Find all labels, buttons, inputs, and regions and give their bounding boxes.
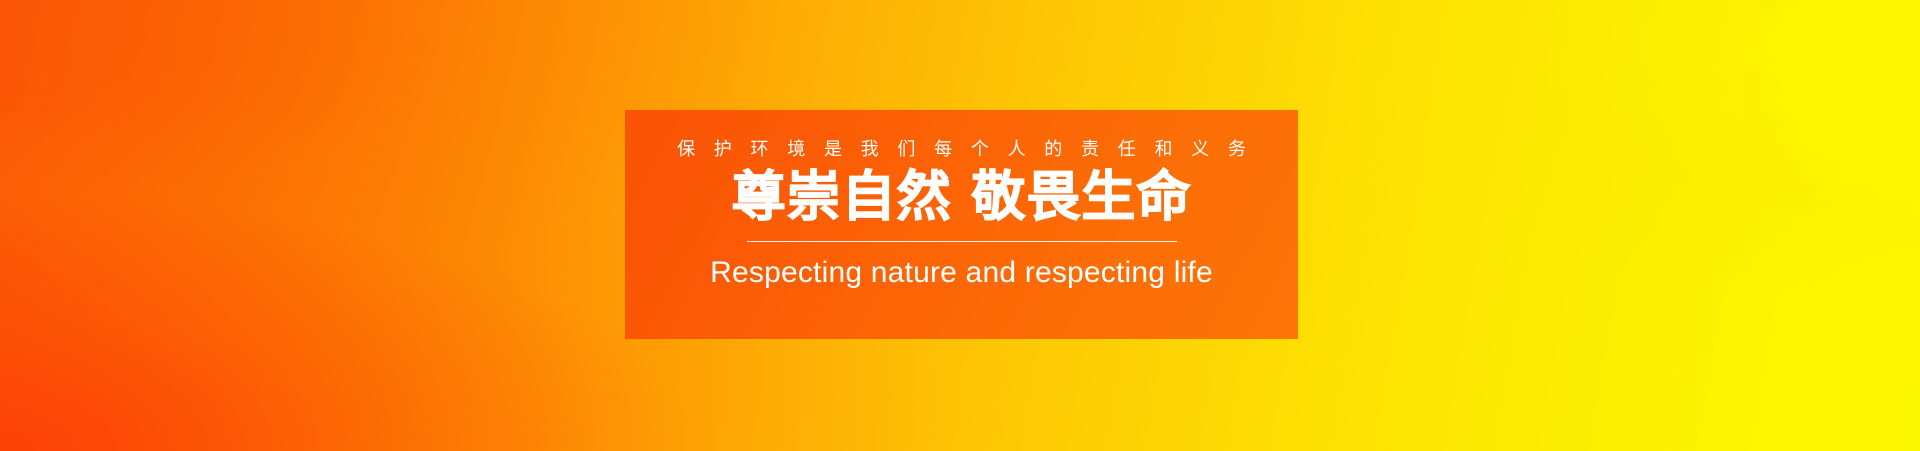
message-panel: 保 护 环 境 是 我 们 每 个 人 的 责 任 和 义 务 尊崇自然 敬畏生… — [625, 110, 1298, 339]
divider-rule — [747, 241, 1177, 242]
promotional-banner: 保 护 环 境 是 我 们 每 个 人 的 责 任 和 义 务 尊崇自然 敬畏生… — [0, 0, 1920, 451]
headline-text: 尊崇自然 敬畏生命 — [625, 166, 1298, 228]
subtitle-text: Respecting nature and respecting life — [625, 254, 1298, 292]
eyebrow-text: 保 护 环 境 是 我 们 每 个 人 的 责 任 和 义 务 — [625, 138, 1298, 162]
message-panel-content: 保 护 环 境 是 我 们 每 个 人 的 责 任 和 义 务 尊崇自然 敬畏生… — [625, 138, 1298, 292]
